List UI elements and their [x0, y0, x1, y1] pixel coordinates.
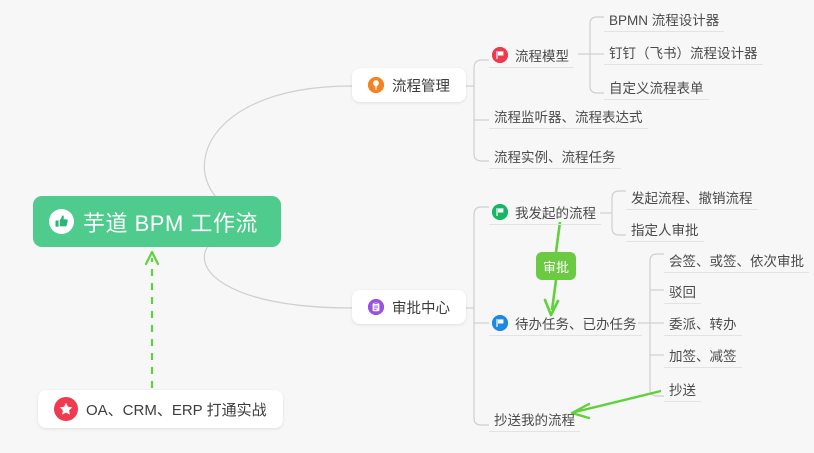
node-todo-done-tasks-label: 待办任务、已办任务	[515, 313, 637, 333]
node-flow-model-label: 流程模型	[515, 45, 569, 65]
node-add-remove-sign[interactable]: 加签、减签	[664, 342, 742, 368]
node-start-cancel-flow-label: 发起流程、撤销流程	[631, 187, 753, 207]
node-todo-done-tasks[interactable]: 待办任务、已办任务	[489, 310, 642, 336]
node-custom-flow-form[interactable]: 自定义流程表单	[604, 74, 709, 100]
node-flow-model[interactable]: 流程模型	[489, 42, 574, 68]
carbon-copy-arrow	[572, 391, 661, 418]
node-reject[interactable]: 驳回	[664, 278, 701, 304]
node-delegate-transfer[interactable]: 委派、转办	[664, 310, 742, 336]
node-my-started-flows-label: 我发起的流程	[515, 202, 596, 222]
mindmap-canvas: 芋道 BPM 工作流 流程管理 审批中心	[0, 0, 814, 453]
branch-approval-center[interactable]: 审批中心	[352, 290, 466, 324]
node-assignee-approval[interactable]: 指定人审批	[626, 216, 704, 242]
node-flow-listener[interactable]: 流程监听器、流程表达式	[489, 103, 648, 129]
node-flow-instance[interactable]: 流程实例、流程任务	[489, 143, 621, 169]
node-multi-sign[interactable]: 会签、或签、依次审批	[664, 247, 809, 273]
node-dingtalk-designer[interactable]: 钉钉（飞书）流程设计器	[604, 39, 763, 65]
node-start-cancel-flow[interactable]: 发起流程、撤销流程	[626, 184, 758, 210]
dashed-green-arrow	[146, 252, 158, 388]
thumbs-up-icon	[49, 209, 74, 234]
node-flow-instance-label: 流程实例、流程任务	[494, 146, 616, 166]
root-label: 芋道 BPM 工作流	[83, 206, 258, 238]
node-custom-flow-form-label: 自定义流程表单	[609, 77, 704, 97]
node-flow-listener-label: 流程监听器、流程表达式	[494, 106, 643, 126]
node-my-started-flows[interactable]: 我发起的流程	[489, 199, 601, 225]
node-carbon-copy-label: 抄送	[669, 379, 696, 399]
flag-icon	[492, 204, 508, 220]
flag-icon	[492, 47, 508, 63]
integration-card-label: OA、CRM、ERP 打通实战	[86, 399, 267, 420]
integration-card[interactable]: OA、CRM、ERP 打通实战	[38, 390, 283, 428]
node-add-remove-sign-label: 加签、减签	[669, 345, 737, 365]
node-assignee-approval-label: 指定人审批	[631, 219, 699, 239]
node-delegate-transfer-label: 委派、转办	[669, 313, 737, 333]
node-bpmn-designer[interactable]: BPMN 流程设计器	[604, 6, 724, 32]
approval-pill-label: 审批	[543, 257, 569, 276]
node-cc-to-me-flows-label: 抄送我的流程	[494, 409, 575, 429]
node-carbon-copy[interactable]: 抄送	[664, 376, 701, 402]
node-reject-label: 驳回	[669, 281, 696, 301]
node-multi-sign-label: 会签、或签、依次审批	[669, 250, 804, 270]
node-cc-to-me-flows[interactable]: 抄送我的流程	[489, 406, 580, 432]
root-node[interactable]: 芋道 BPM 工作流	[33, 196, 281, 247]
branch-flow-management-label: 流程管理	[392, 75, 450, 96]
branch-approval-center-label: 审批中心	[392, 297, 450, 318]
node-dingtalk-designer-label: 钉钉（飞书）流程设计器	[609, 42, 758, 62]
lightbulb-icon	[368, 77, 384, 93]
clipboard-icon	[368, 299, 384, 315]
branch-flow-management[interactable]: 流程管理	[352, 68, 466, 102]
node-bpmn-designer-label: BPMN 流程设计器	[609, 9, 719, 29]
flag-icon	[492, 315, 508, 331]
approval-pill[interactable]: 审批	[536, 252, 576, 280]
star-icon	[54, 397, 78, 421]
